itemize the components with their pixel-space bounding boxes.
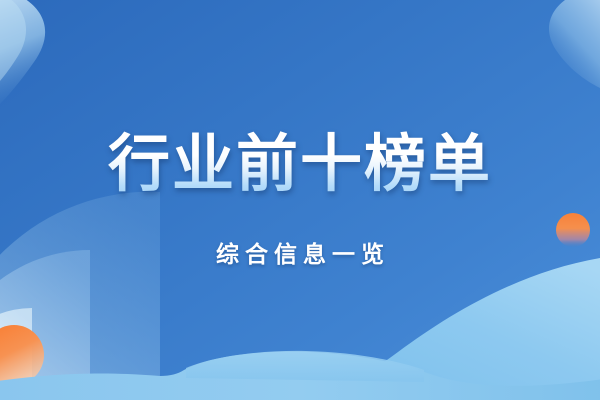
title-banner: 行业前十榜单 综合信息一览 — [0, 0, 600, 400]
background-decoration — [0, 0, 600, 400]
circle-orange-right-icon — [556, 213, 590, 247]
